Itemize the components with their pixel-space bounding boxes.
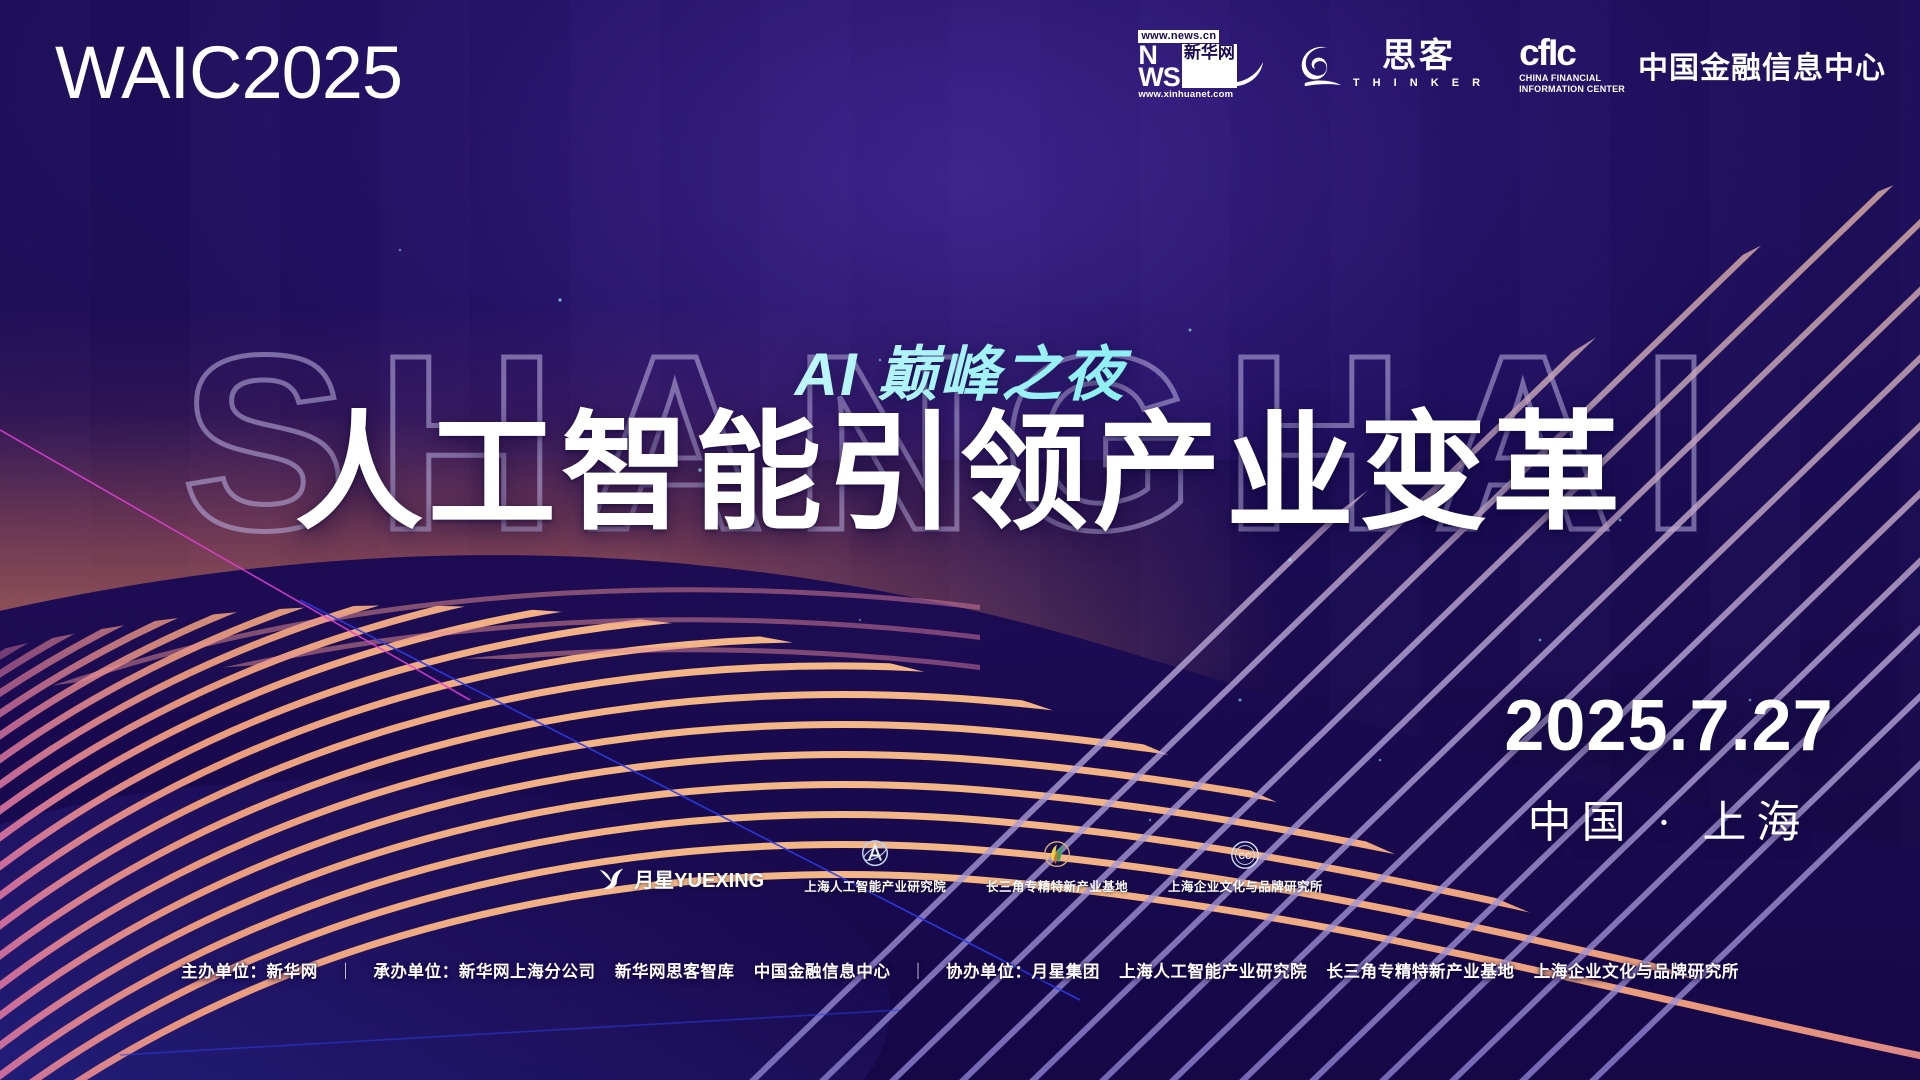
footer-credits: 主办单位：新华网 ｜ 承办单位：新华网上海分公司 新华网思客智库 中国金融信息中… xyxy=(0,958,1920,982)
event-date-block: 2025.7.27 中国 · 上海 xyxy=(1504,690,1834,850)
footer-coorganizer-3: 长三角专精特新产业基地 xyxy=(1326,963,1514,981)
footer-coorganizer-2: 上海人工智能产业研究院 xyxy=(1119,963,1307,981)
thinker-cn-name: 思客 xyxy=(1382,40,1456,74)
blue-glow xyxy=(0,780,890,1080)
poster-header: WAIC2025 www.news.cn N WS 新华网 xyxy=(0,0,1920,140)
svg-text:CC: CC xyxy=(1239,851,1252,861)
waic-logo-year: 2025 xyxy=(241,31,402,114)
sponsor-yuexing: 月星YUEXING xyxy=(597,861,764,895)
sponsor-ai-institute: 上海人工智能产业研究院 xyxy=(804,838,946,895)
waic-logo: WAIC2025 xyxy=(55,36,402,110)
cfic-sub-line1: CHINA FINANCIAL xyxy=(1519,73,1601,84)
sponsor-yuexing-name: 月星YUEXING xyxy=(634,864,764,893)
ai-institute-logo-icon xyxy=(858,838,892,872)
thinker-swirl-icon xyxy=(1299,42,1345,88)
footer-separator-1: ｜ xyxy=(323,963,368,981)
xinhua-swoosh-icon xyxy=(1235,48,1265,88)
cfic-letters: cfIc xyxy=(1519,34,1575,71)
culture-brand-logo-icon: CC xyxy=(1229,838,1261,872)
sponsor-yrd-base: 长三角专精特新产业基地 xyxy=(986,838,1128,895)
footer-host: 主办单位：新华网 xyxy=(181,963,318,981)
xinhua-letter-ws: WS xyxy=(1138,66,1182,88)
thinker-latin-name: T H I N K E R xyxy=(1353,78,1485,89)
sponsor-ai-institute-name: 上海人工智能产业研究院 xyxy=(804,876,946,895)
footer-organizer-3: 中国金融信息中心 xyxy=(754,963,891,981)
yrd-base-logo-icon xyxy=(1040,838,1074,872)
partner-logo-thinker: 思客 T H I N K E R xyxy=(1299,40,1485,89)
event-main-title: 人工智能引领产业变革 xyxy=(0,400,1920,547)
partner-logo-row: www.news.cn N WS 新华网 www.xinhuanet.com xyxy=(1138,30,1886,100)
xinhua-url-bottom: www.xinhuanet.com xyxy=(1138,90,1233,100)
footer-organizer-1: 承办单位：新华网上海分公司 xyxy=(373,963,595,981)
yuexing-star-logo-icon xyxy=(597,861,627,895)
event-date: 2025.7.27 xyxy=(1504,690,1834,762)
waic-logo-main: WAIC xyxy=(55,31,241,114)
cfic-sub-line2: INFORMATION CENTER xyxy=(1519,84,1625,95)
cfic-cn-name: 中国金融信息中心 xyxy=(1638,43,1886,87)
sponsor-culture-brand-name: 上海企业文化与品牌研究所 xyxy=(1168,876,1323,895)
lower-right-diagonal-stripes xyxy=(300,20,1920,1080)
sponsor-culture-brand: CC 上海企业文化与品牌研究所 xyxy=(1168,838,1323,895)
poster-canvas: SHANGHAI xyxy=(0,0,1920,1080)
sponsor-logo-row: 月星YUEXING 上海人工智能产业研究院 长三角 xyxy=(0,838,1920,895)
sponsor-yrd-base-name: 长三角专精特新产业基地 xyxy=(986,876,1128,895)
partner-logo-xinhua: www.news.cn N WS 新华网 www.xinhuanet.com xyxy=(1138,30,1265,100)
xinhua-cn-name: 新华网 xyxy=(1182,44,1237,88)
footer-separator-2: ｜ xyxy=(896,963,941,981)
partner-logo-cfic: cfIc CHINA FINANCIAL INFORMATION CENTER … xyxy=(1519,34,1886,96)
footer-coorganizer-1: 协办单位：月星集团 xyxy=(946,963,1100,981)
footer-organizer-2: 新华网思客智库 xyxy=(615,963,735,981)
upper-left-line-waves xyxy=(0,590,1000,820)
footer-coorganizer-4: 上海企业文化与品牌研究所 xyxy=(1534,963,1739,981)
